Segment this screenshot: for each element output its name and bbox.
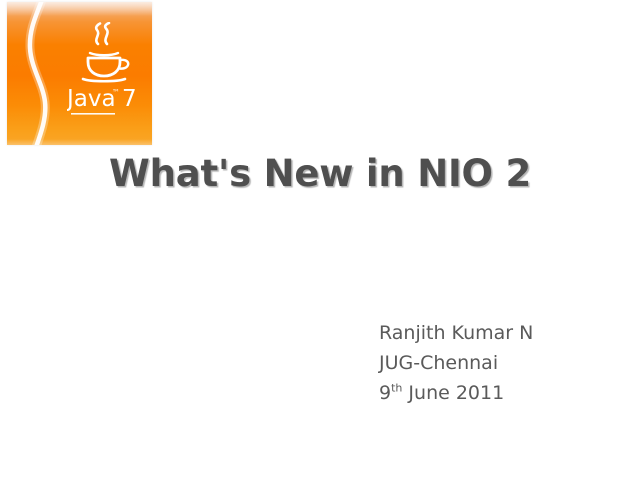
byline-date: 9th June 2011 [379,378,629,408]
wordmark-java-text: Java [67,86,116,112]
java-wordmark: Java ™ 7 [67,84,151,124]
wave-ribbon-icon [7,2,67,145]
wordmark-trademark-text: ™ [112,88,120,97]
byline-organization: JUG-Chennai [379,348,629,378]
presentation-slide: Java ™ 7 What's New in NIO 2 Ranjith Kum… [0,0,640,480]
wordmark-version-text: 7 [122,86,137,112]
coffee-cup-icon [73,22,135,84]
byline-date-ordinal: th [391,382,402,395]
page-title: What's New in NIO 2 [0,152,640,195]
wordmark-underline [71,113,115,115]
java-7-logo: Java ™ 7 [7,2,152,145]
byline-block: Ranjith Kumar N JUG-Chennai 9th June 201… [379,318,629,408]
byline-date-rest: June 2011 [402,382,504,404]
byline-date-day: 9 [379,382,391,404]
byline-author: Ranjith Kumar N [379,318,629,348]
